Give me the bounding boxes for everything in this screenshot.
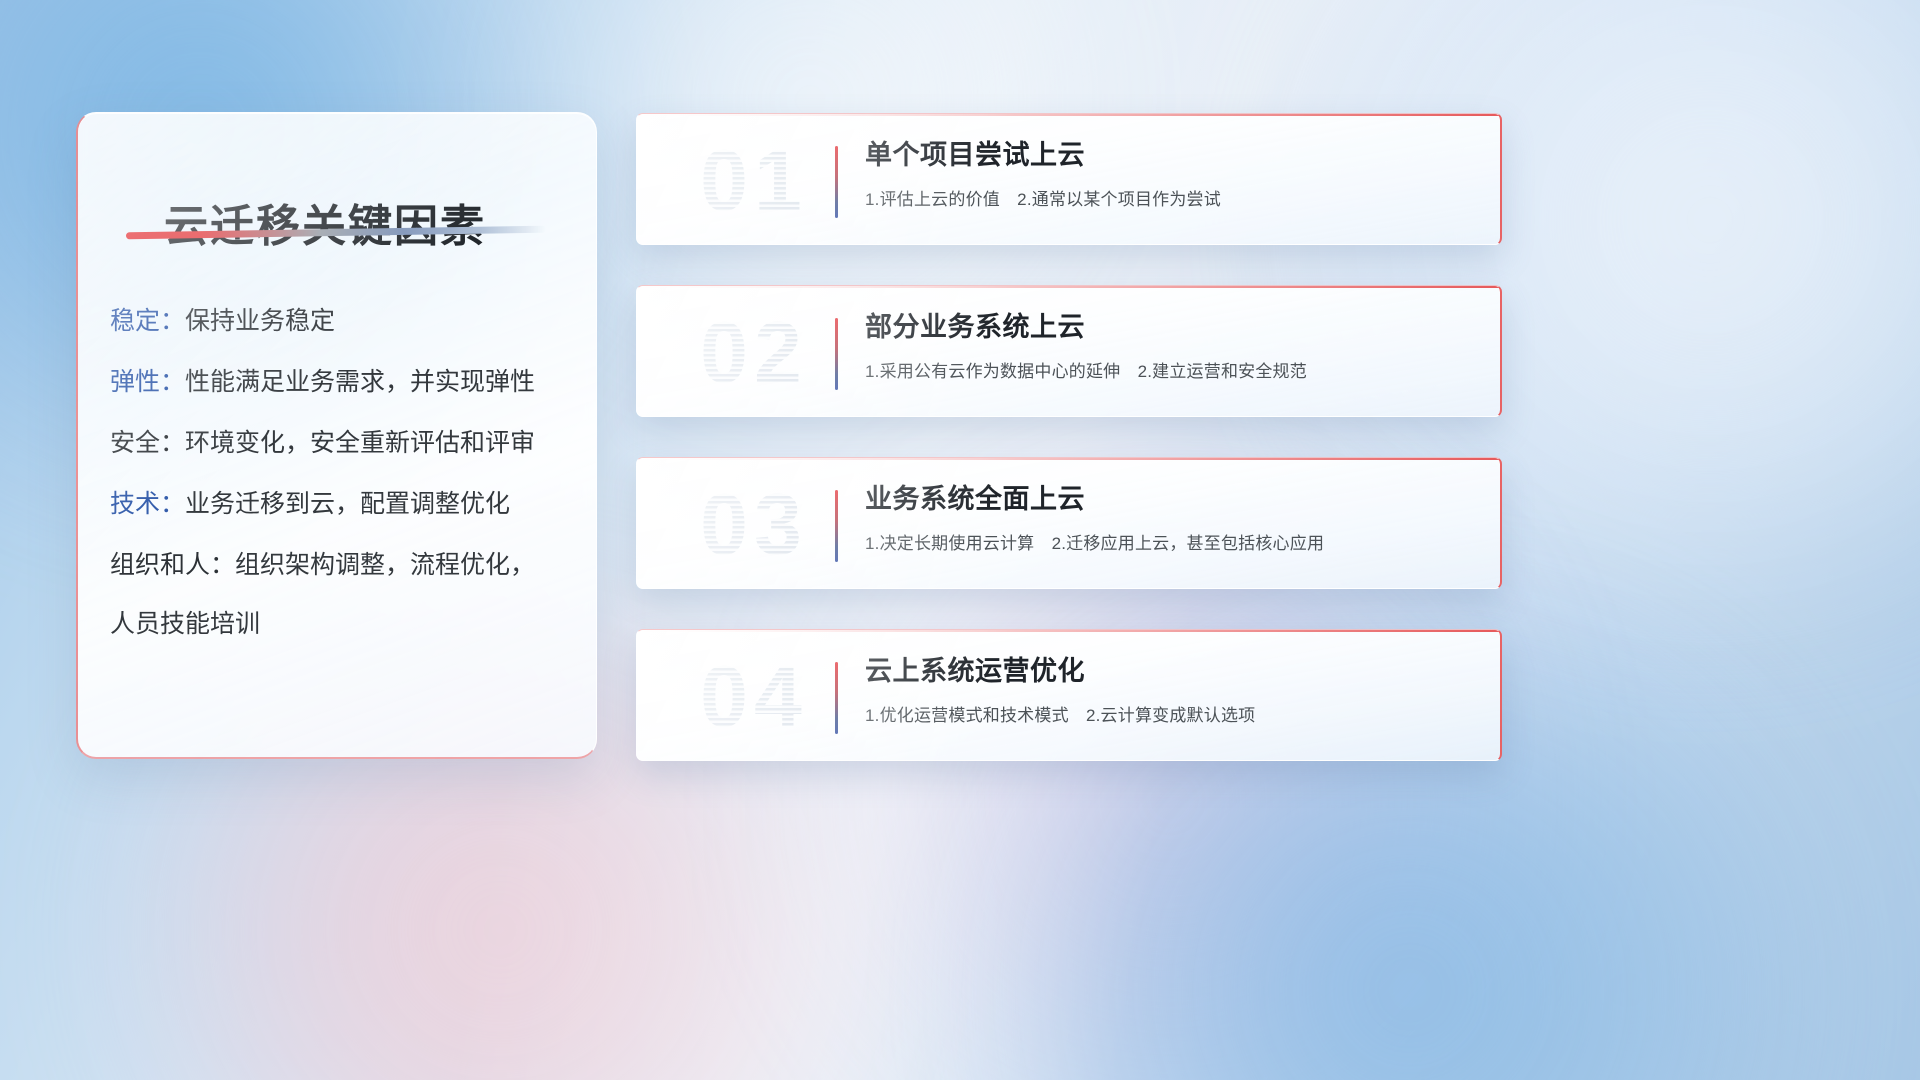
stage-card-body: 单个项目尝试上云 1.评估上云的价值 2.通常以某个项目作为尝试: [865, 140, 1474, 210]
accent-bar: [835, 662, 838, 734]
key-factors-panel: 云迁移关键因素 稳定： 保持业务稳定 弹性： 性能满足业务需求，并实现弹性 安全…: [76, 112, 597, 759]
list-item-value: 组织架构调整，流程优化，: [235, 553, 535, 578]
stage-card-02[interactable]: 02 部分业务系统上云 1.采用公有云作为数据中心的延伸 2.建立运营和安全规范: [636, 285, 1502, 417]
list-item: 稳定： 保持业务稳定: [110, 309, 570, 334]
list-item: 弹性： 性能满足业务需求，并实现弹性: [110, 370, 570, 395]
stage-card-title: 部分业务系统上云: [865, 312, 1474, 343]
list-item-value: 保持业务稳定: [185, 309, 335, 334]
key-factors-list: 稳定： 保持业务稳定 弹性： 性能满足业务需求，并实现弹性 安全： 环境变化，安…: [110, 309, 570, 673]
list-item-label: 弹性：: [110, 370, 185, 395]
stage-number-watermark: 02: [665, 294, 843, 412]
list-item-value: 环境变化，安全重新评估和评审: [185, 431, 535, 456]
stage-card-title: 单个项目尝试上云: [865, 140, 1474, 171]
stage-card-body: 云上系统运营优化 1.优化运营模式和技术模式 2.云计算变成默认选项: [865, 656, 1474, 726]
stage-card-01[interactable]: 01 单个项目尝试上云 1.评估上云的价值 2.通常以某个项目作为尝试: [636, 113, 1502, 245]
stage-card-body: 业务系统全面上云 1.决定长期使用云计算 2.迁移应用上云，甚至包括核心应用: [865, 484, 1474, 554]
stage-card-04[interactable]: 04 云上系统运营优化 1.优化运营模式和技术模式 2.云计算变成默认选项: [636, 629, 1502, 761]
stage-card-description: 1.评估上云的价值 2.通常以某个项目作为尝试: [865, 185, 1474, 210]
list-item-label: 技术：: [110, 492, 185, 517]
stage-card-description: 1.采用公有云作为数据中心的延伸 2.建立运营和安全规范: [865, 357, 1474, 382]
list-item-label: 稳定：: [110, 309, 185, 334]
list-item-value: 性能满足业务需求，并实现弹性: [185, 370, 535, 395]
stage-card-body: 部分业务系统上云 1.采用公有云作为数据中心的延伸 2.建立运营和安全规范: [865, 312, 1474, 382]
panel-title: 云迁移关键因素: [164, 190, 486, 254]
list-item-label: 安全：: [110, 431, 185, 456]
stage-number-watermark: 04: [665, 638, 843, 756]
stage-card-title: 业务系统全面上云: [865, 484, 1474, 515]
list-item-value-continued: 人员技能培训: [110, 612, 570, 637]
stage-cards-list: 01 单个项目尝试上云 1.评估上云的价值 2.通常以某个项目作为尝试 02 部…: [636, 113, 1502, 801]
accent-bar: [835, 146, 838, 218]
accent-bar: [835, 490, 838, 562]
stage-card-03[interactable]: 03 业务系统全面上云 1.决定长期使用云计算 2.迁移应用上云，甚至包括核心应…: [636, 457, 1502, 589]
list-item: 技术： 业务迁移到云，配置调整优化: [110, 492, 570, 517]
stage-card-title: 云上系统运营优化: [865, 656, 1474, 687]
accent-bar: [835, 318, 838, 390]
list-item-value: 业务迁移到云，配置调整优化: [185, 492, 510, 517]
stage-number-watermark: 03: [665, 466, 843, 584]
stage-number-watermark: 01: [665, 122, 843, 240]
list-item: 组织和人： 组织架构调整，流程优化， 人员技能培训: [110, 553, 570, 637]
stage-card-description: 1.决定长期使用云计算 2.迁移应用上云，甚至包括核心应用: [865, 529, 1474, 554]
slide-canvas: 云迁移关键因素 稳定： 保持业务稳定 弹性： 性能满足业务需求，并实现弹性 安全…: [0, 0, 1920, 1080]
stage-card-description: 1.优化运营模式和技术模式 2.云计算变成默认选项: [865, 701, 1474, 726]
list-item-label: 组织和人：: [110, 553, 235, 578]
list-item: 安全： 环境变化，安全重新评估和评审: [110, 431, 570, 456]
